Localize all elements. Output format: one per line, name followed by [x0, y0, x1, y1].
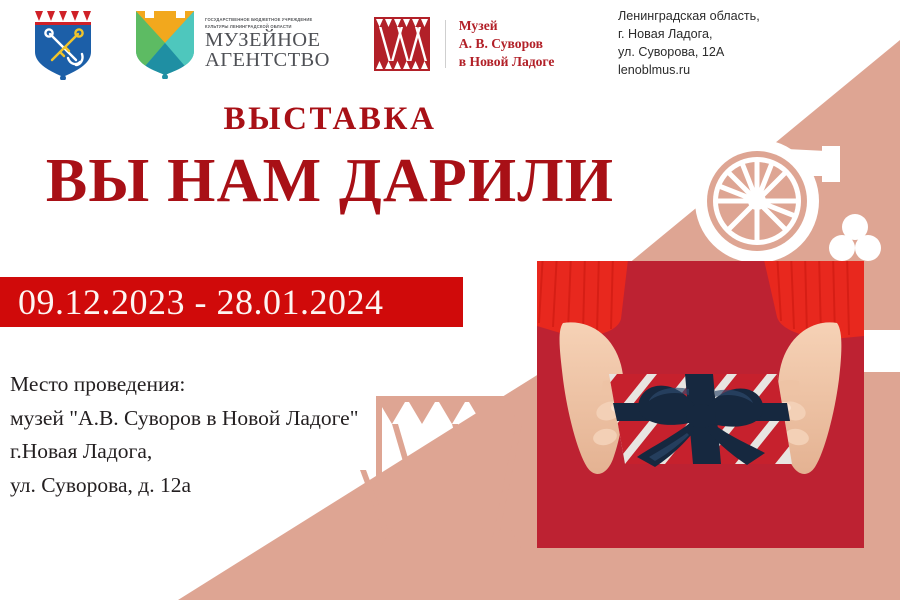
address-line-3: ул. Суворова, 12А: [618, 44, 760, 62]
agency-small-line-1: ГОСУДАРСТВЕННОЕ БЮДЖЕТНОЕ УЧРЕЖДЕНИЕ: [205, 17, 330, 22]
venue-line-4: ул. Суворова, д. 12а: [10, 469, 358, 503]
venue-line-3: г.Новая Ладога,: [10, 435, 358, 469]
address-website[interactable]: lenoblmus.ru: [618, 62, 760, 80]
leningrad-oblast-coat-of-arms-icon: [32, 8, 94, 80]
venue-line-1: Место проведения:: [10, 368, 358, 402]
page-title: ВЫ НАМ ДАРИЛИ: [0, 146, 660, 217]
date-banner: 09.12.2023 - 28.01.2024: [0, 277, 463, 327]
logo-row: ГОСУДАРСТВЕННОЕ БЮДЖЕТНОЕ УЧРЕЖДЕНИЕ КУЛ…: [0, 0, 900, 88]
venue-line-2: музей "А.В. Суворов в Новой Ладоге": [10, 402, 358, 436]
museum-agency-text: ГОСУДАРСТВЕННОЕ БЮДЖЕТНОЕ УЧРЕЖДЕНИЕ КУЛ…: [205, 17, 330, 70]
agency-big-line-1: МУЗЕЙНОЕ: [205, 30, 330, 50]
exhibition-kicker: ВЫСТАВКА: [0, 101, 660, 138]
logo-divider: [445, 20, 446, 68]
agency-big-line-2: АГЕНТСТВО: [205, 50, 330, 70]
date-range-text: 09.12.2023 - 28.01.2024: [18, 281, 384, 323]
museum-agency-shield-icon: [134, 9, 196, 79]
address-line-2: г. Новая Ладога,: [618, 26, 760, 44]
leningrad-oblast-logo[interactable]: [32, 8, 94, 80]
suvorov-museum-logo[interactable]: Музей А. В. Суворов в Новой Ладоге: [372, 15, 555, 73]
suvorov-line-1: Музей: [459, 17, 555, 35]
suvorov-line-2: А. В. Суворов: [459, 35, 555, 53]
suvorov-museum-text: Музей А. В. Суворов в Новой Ладоге: [459, 17, 555, 71]
gift-photo: [537, 261, 864, 548]
exhibition-poster: ГОСУДАРСТВЕННОЕ БЮДЖЕТНОЕ УЧРЕЖДЕНИЕ КУЛ…: [0, 0, 900, 600]
suvorov-museum-drum-icon: [372, 15, 432, 73]
venue-block: Место проведения: музей "А.В. Суворов в …: [10, 368, 358, 502]
address-line-1: Ленинградская область,: [618, 8, 760, 26]
suvorov-line-3: в Новой Ладоге: [459, 53, 555, 71]
address-block: Ленинградская область, г. Новая Ладога, …: [618, 8, 760, 80]
museum-agency-logo[interactable]: ГОСУДАРСТВЕННОЕ БЮДЖЕТНОЕ УЧРЕЖДЕНИЕ КУЛ…: [134, 9, 330, 79]
